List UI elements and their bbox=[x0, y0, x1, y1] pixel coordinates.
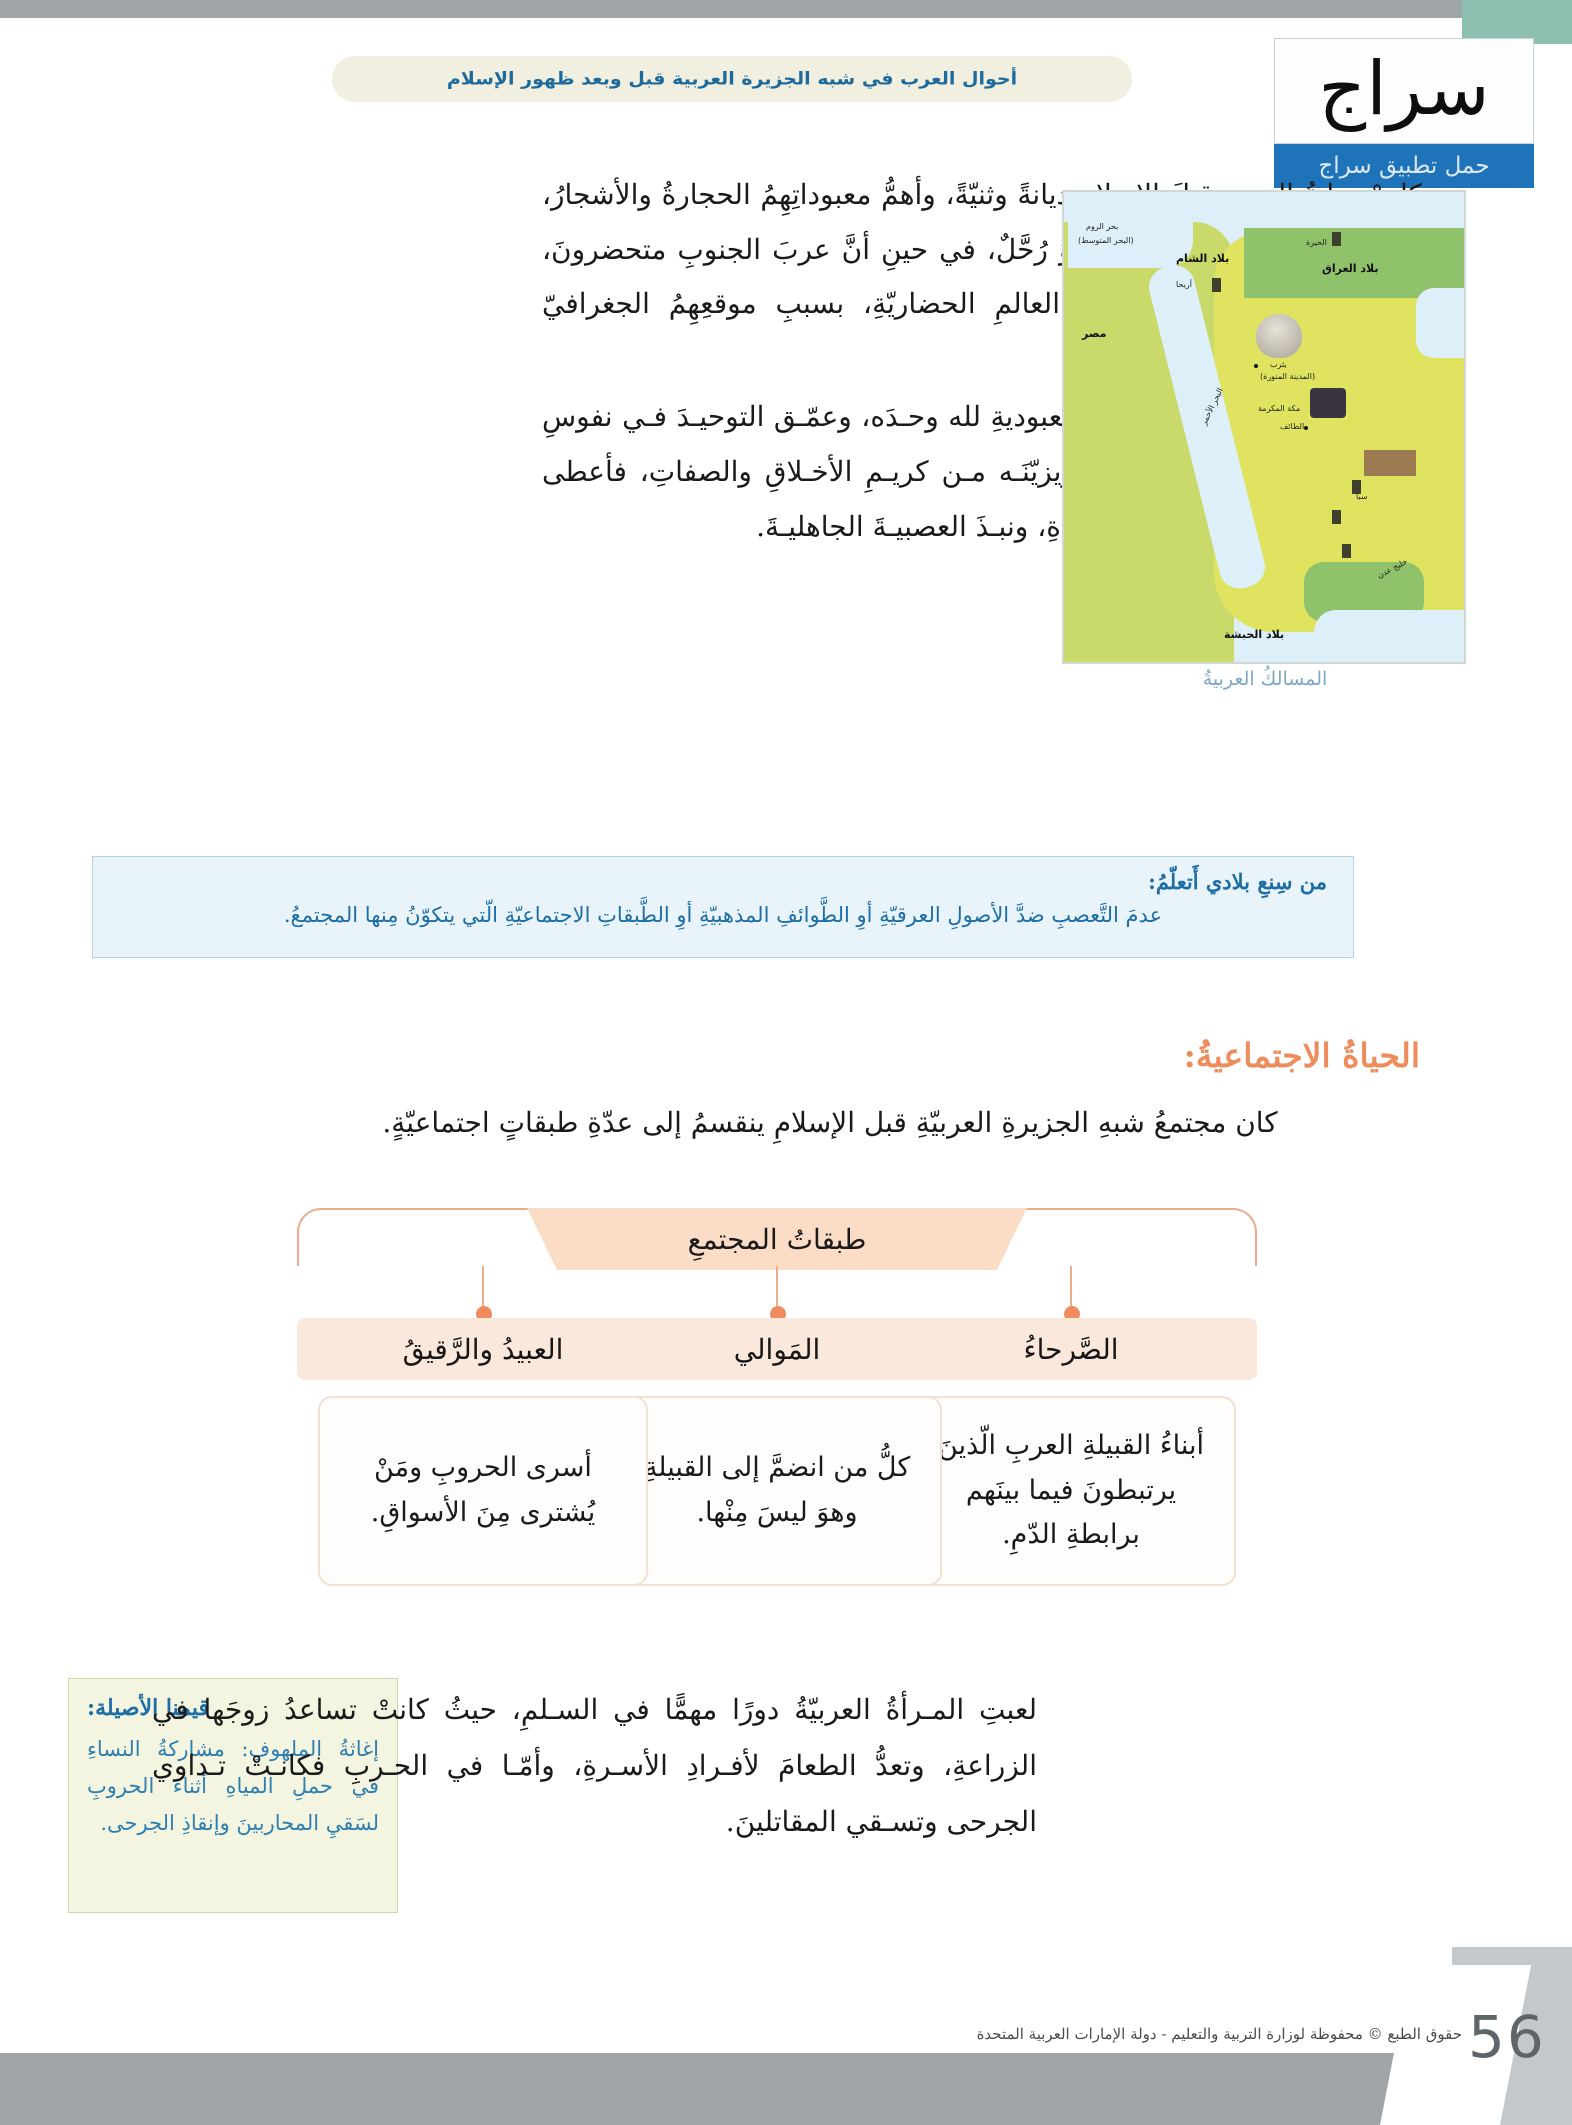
map-caption: المسالكُ العربيةُ bbox=[1105, 668, 1425, 690]
map-gulf-of-aden bbox=[1314, 610, 1466, 662]
map-photo-inset-ruins bbox=[1364, 450, 1416, 476]
map-label-rum-sea-alt: (البحر المتوسط) bbox=[1078, 236, 1134, 245]
page-number: 56 bbox=[1468, 2003, 1546, 2071]
map-label-rum-sea: بحر الروم bbox=[1086, 222, 1118, 231]
diagram-category-3-label: العبيدُ والرَّقيقُ bbox=[403, 1333, 564, 1366]
diagram-card-2: كلُّ من انضمَّ إلى القبيلةِ وهوَ ليسَ مِ… bbox=[612, 1396, 942, 1586]
running-header: أحوال العرب في شبه الجزيرة العربية قبل و… bbox=[332, 56, 1132, 102]
map-icon-site-yemen bbox=[1332, 510, 1341, 524]
diagram-category-3: العبيدُ والرَّقيقُ bbox=[297, 1318, 669, 1380]
top-decorative-bar bbox=[0, 0, 1462, 18]
diagram-card-3-text: أسرى الحروبِ ومَنْ يُشترى مِنَ الأسواقِ. bbox=[338, 1446, 628, 1535]
arabian-peninsula-map: بحر الروم (البحر المتوسط) بلاد الشام بلا… bbox=[1062, 190, 1466, 664]
from-my-country-box: من سِنعِ بلادي أَتعلّمُ: عدمَ التَّعصبِ … bbox=[92, 856, 1354, 958]
map-photo-inset-tent bbox=[1256, 314, 1302, 358]
society-classes-diagram: طبقاتُ المجتمعِ الصَّرحاءُ أبناءُ القبيل… bbox=[0, 1200, 1572, 1620]
siraj-logo-text: سراج bbox=[1318, 52, 1489, 126]
diagram-category-2-label: المَوالي bbox=[734, 1333, 821, 1366]
bottom-paragraph: لعبتِ المـرأةُ العربيّةُ دورًا مهمًّا في… bbox=[152, 1682, 1037, 1850]
map-label-ariha: أريحا bbox=[1176, 280, 1192, 289]
map-persian-gulf bbox=[1416, 288, 1466, 358]
map-label-habasha: بلاد الحبشة bbox=[1224, 628, 1284, 641]
map-label-sham: بلاد الشام bbox=[1176, 252, 1229, 265]
map-label-taif: الطائف bbox=[1280, 422, 1304, 431]
diagram-title-label: طبقاتُ المجتمعِ bbox=[688, 1223, 867, 1256]
diagram-card-1: أبناءُ القبيلةِ العربِ الّذينَ يرتبطونَ … bbox=[906, 1396, 1236, 1586]
footer-bar bbox=[0, 2053, 1458, 2125]
map-dot-taif bbox=[1304, 426, 1308, 430]
diagram-title-box: طبقاتُ المجتمعِ bbox=[527, 1208, 1027, 1270]
siraj-logo-wordmark: سراج bbox=[1274, 38, 1534, 144]
diagram-card-2-text: كلُّ من انضمَّ إلى القبيلةِ وهوَ ليسَ مِ… bbox=[632, 1446, 922, 1535]
map-label-hira: الحيرة bbox=[1306, 238, 1327, 247]
section-heading-social-life: الحياةُ الاجتماعيةُ: bbox=[1184, 1036, 1420, 1075]
diagram-category-1-label: الصَّرحاءُ bbox=[1023, 1333, 1118, 1366]
map-label-egypt: مصر bbox=[1082, 327, 1107, 340]
footer-copyright: حقوق الطبع © محفوظة لوزارة التربية والتع… bbox=[977, 2025, 1462, 2043]
map-icon-site-south bbox=[1342, 544, 1351, 558]
map-icon-site-hira bbox=[1332, 232, 1341, 246]
running-header-text: أحوال العرب في شبه الجزيرة العربية قبل و… bbox=[447, 69, 1017, 89]
map-label-iraq: بلاد العراق bbox=[1322, 262, 1379, 275]
map-label-yathrib-alt: (المدينة المنورة) bbox=[1260, 372, 1315, 381]
section-intro-text: كان مجتمعُ شبهِ الجزيرةِ العربيّةِ قبل ا… bbox=[240, 1106, 1420, 1139]
map-label-makkah: مكة المكرمة bbox=[1258, 404, 1300, 413]
diagram-card-1-text: أبناءُ القبيلةِ العربِ الّذينَ يرتبطونَ … bbox=[926, 1424, 1216, 1558]
map-photo-inset-kaaba bbox=[1310, 388, 1346, 418]
from-my-country-text: عدمَ التَّعصبِ ضدَّ الأصولِ العرقيّةِ أو… bbox=[119, 900, 1327, 932]
map-dot-yathrib bbox=[1254, 364, 1258, 368]
map-label-yathrib: يثرب bbox=[1270, 360, 1287, 369]
siraj-logo[interactable]: سراج حمل تطبيق سراج bbox=[1274, 38, 1534, 188]
map-icon-site-saba bbox=[1352, 480, 1361, 494]
map-mediterranean bbox=[1068, 196, 1193, 268]
map-icon-site-ariha bbox=[1212, 278, 1221, 292]
diagram-card-3: أسرى الحروبِ ومَنْ يُشترى مِنَ الأسواقِ. bbox=[318, 1396, 648, 1586]
from-my-country-title: من سِنعِ بلادي أَتعلّمُ: bbox=[119, 869, 1327, 894]
